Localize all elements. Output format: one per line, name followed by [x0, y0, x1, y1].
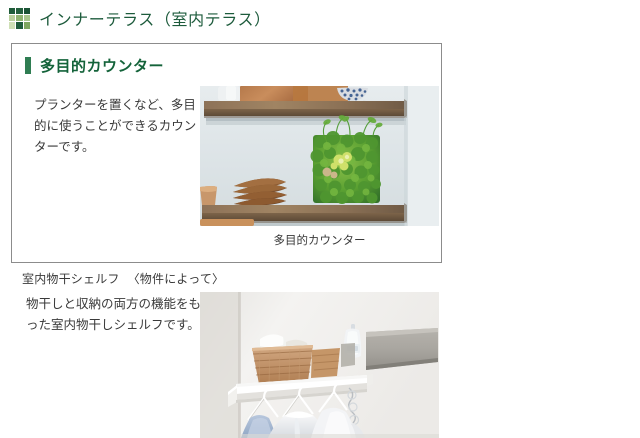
page-root: インナーテラス（室内テラス） 多目的カウンター プランターを置くなど、多目的に使… [0, 0, 640, 438]
page-header: インナーテラス（室内テラス） [0, 0, 640, 36]
section2-title-label: 室内物干シェルフ [22, 272, 120, 286]
indoor-laundry-shelf-photo [200, 292, 439, 438]
section2-title-note: 〈物件によって〉 [128, 272, 225, 286]
section1-body-text: プランターを置くなど、多目的に使うことができるカウンターです。 [34, 95, 206, 158]
grid-icon [9, 8, 30, 29]
multipurpose-counter-photo [200, 86, 439, 226]
page-title: インナーテラス（室内テラス） [39, 6, 271, 30]
section2-title: 室内物干シェルフ〈物件によって〉 [22, 270, 224, 287]
heading-accent-bar [25, 57, 31, 74]
section1-heading-label: 多目的カウンター [40, 55, 164, 76]
section2-body-text: 物干しと収納の両方の機能をもった室内物干しシェルフです。 [26, 294, 202, 336]
photo1-caption: 多目的カウンター [200, 232, 439, 248]
section1-heading: 多目的カウンター [25, 55, 164, 76]
